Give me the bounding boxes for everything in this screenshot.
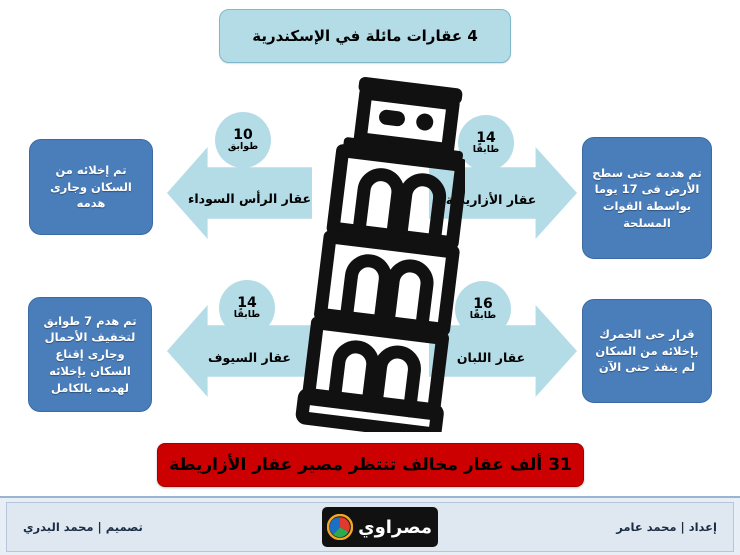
building-name-label: عقار اللبان xyxy=(457,350,525,365)
credit-prepared-by: إعداد | محمد عامر xyxy=(616,520,717,534)
status-text: تم إخلائه من السكان وجارى هدمه xyxy=(36,162,146,212)
footer: إعداد | محمد عامر مصراوي تصميم | محمد ال… xyxy=(0,496,740,555)
status-box-top-right: تم هدمه حتى سطح الأرض فى 17 يوما بواسطة … xyxy=(582,137,712,259)
floor-count-badge-bottom-left: 14 طابقًا xyxy=(219,280,275,336)
infographic-canvas: 4 عقارات مائلة في الإسكندرية تم إخلائه م… xyxy=(0,0,740,555)
masrawy-logo[interactable]: مصراوي xyxy=(322,507,438,547)
red-banner-text: 31 ألف عقار مخالف تنتظر مصير عقار الأزار… xyxy=(169,455,572,475)
page-title: 4 عقارات مائلة في الإسكندرية xyxy=(219,9,511,63)
status-text: تم هدمه حتى سطح الأرض فى 17 يوما بواسطة … xyxy=(589,165,705,232)
floor-count-badge-top-right: 14 طابقًا xyxy=(458,115,514,171)
floor-count-unit: طابقًا xyxy=(234,310,261,320)
status-text: تم هدم 7 طوابق لتخفيف الأحمال وجارى إقنا… xyxy=(35,313,145,396)
floor-count-unit: طوابق xyxy=(228,142,258,152)
footer-inner: إعداد | محمد عامر مصراوي تصميم | محمد ال… xyxy=(6,502,734,552)
status-box-bottom-left: تم هدم 7 طوابق لتخفيف الأحمال وجارى إقنا… xyxy=(28,297,152,412)
status-box-bottom-right: قرار حى الجمرك بإخلائه من السكان لم ينفذ… xyxy=(582,299,712,403)
leaning-tower-icon xyxy=(275,72,465,432)
status-box-top-left: تم إخلائه من السكان وجارى هدمه xyxy=(29,139,153,235)
red-summary-banner: 31 ألف عقار مخالف تنتظر مصير عقار الأزار… xyxy=(157,443,584,487)
floor-count-unit: طابقًا xyxy=(470,311,497,321)
masrawy-logo-mark xyxy=(327,514,353,540)
masrawy-logo-text: مصراوي xyxy=(358,517,432,538)
floor-count-number: 10 xyxy=(233,128,252,143)
floor-count-unit: طابقًا xyxy=(473,145,500,155)
floor-count-badge-top-left: 10 طوابق xyxy=(215,112,271,168)
status-text: قرار حى الجمرك بإخلائه من السكان لم ينفذ… xyxy=(589,326,705,376)
page-title-text: 4 عقارات مائلة في الإسكندرية xyxy=(252,27,478,45)
credit-designed-by: تصميم | محمد البدري xyxy=(23,520,143,534)
